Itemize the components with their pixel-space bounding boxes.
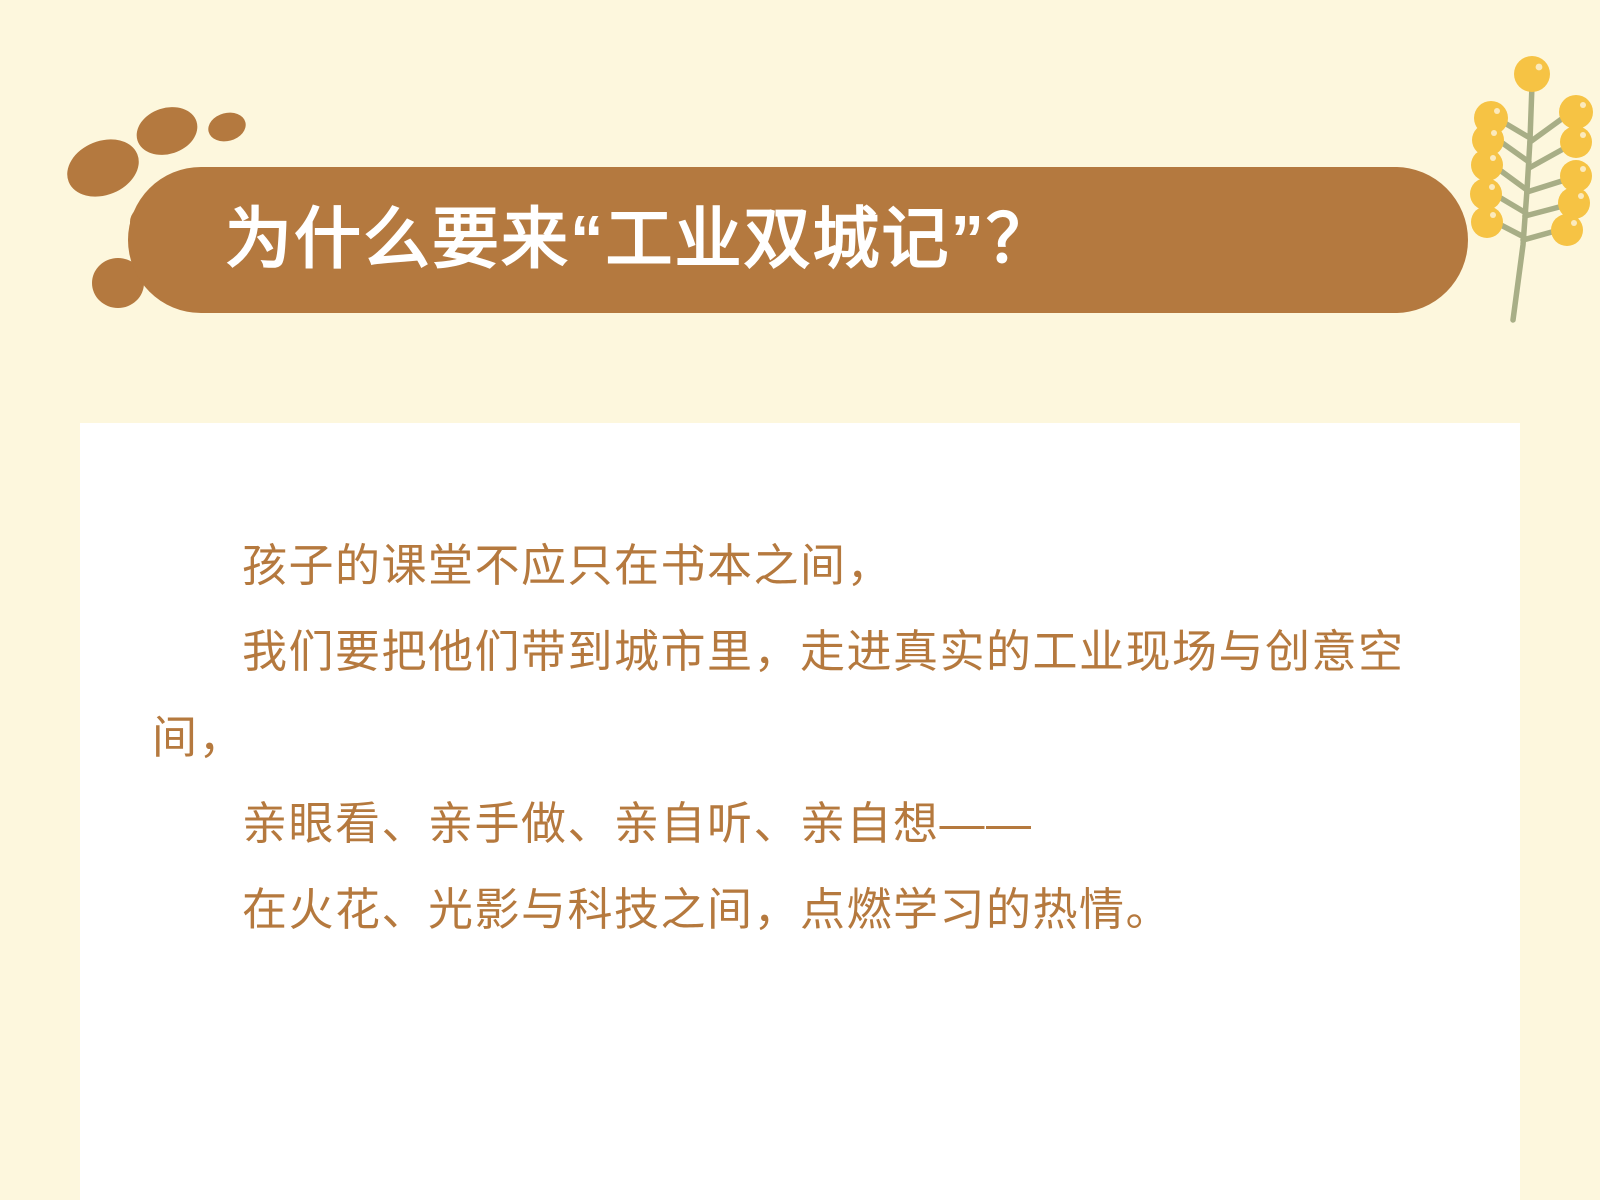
berry-left-3 — [1471, 149, 1503, 181]
berry-right-5 — [1551, 214, 1583, 246]
berry-right-4 — [1558, 187, 1590, 219]
berry-right-2 — [1560, 126, 1592, 158]
berry-left-5 — [1471, 206, 1503, 238]
body-copy: 孩子的课堂不应只在书本之间， 我们要把他们带到城市里，走进真实的工业现场与创意空… — [152, 523, 1448, 953]
decor-plant-sprig — [1455, 30, 1600, 330]
body-paragraph: 我们要把他们带到城市里，走进真实的工业现场与创意空间， — [152, 609, 1448, 781]
berry-left-4 — [1470, 178, 1502, 210]
blob-small-top — [205, 109, 249, 146]
body-paragraph: 在火花、光影与科技之间，点燃学习的热情。 — [152, 867, 1448, 953]
berry-top — [1514, 56, 1550, 92]
mimosa-sprig-icon — [1455, 30, 1600, 330]
body-paragraph: 亲眼看、亲手做、亲自听、亲自想—— — [152, 781, 1448, 867]
berry-right-1 — [1559, 95, 1593, 129]
blob-large-left — [59, 129, 148, 207]
content-card: 孩子的课堂不应只在书本之间， 我们要把他们带到城市里，走进真实的工业现场与创意空… — [80, 423, 1520, 1200]
page-title: 为什么要来“工业双城记”？ — [225, 186, 1425, 294]
blob-mid-top — [130, 100, 203, 163]
body-paragraph: 孩子的课堂不应只在书本之间， — [152, 523, 1448, 609]
